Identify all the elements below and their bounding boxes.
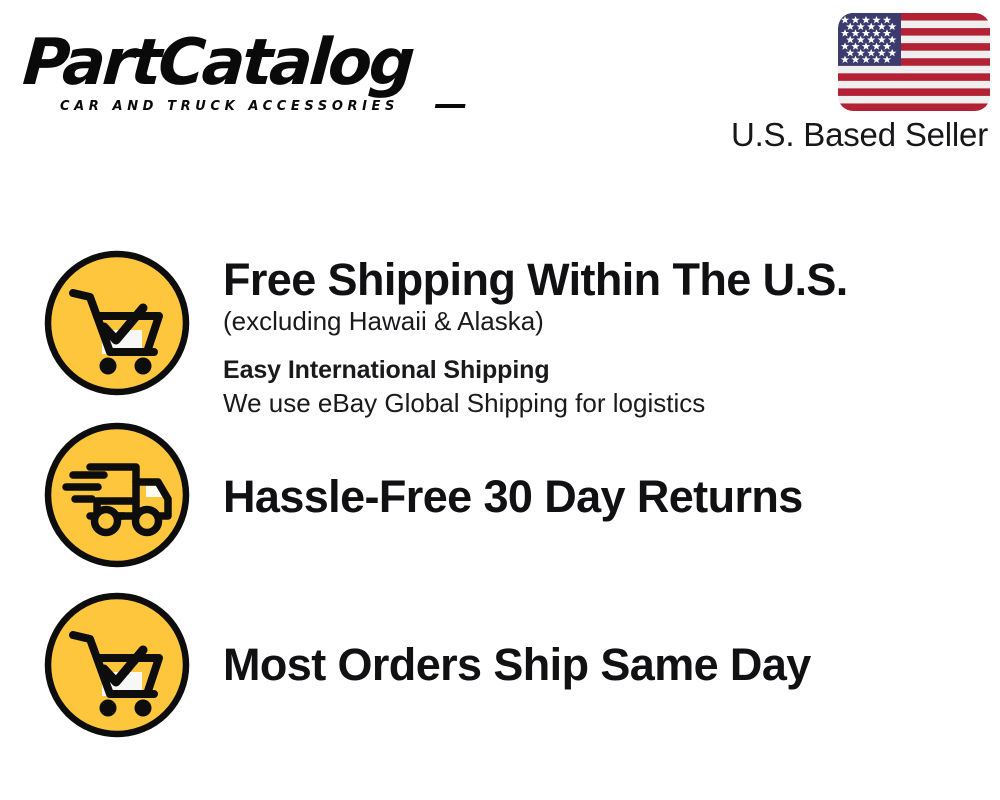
delivery-truck-icon — [42, 420, 192, 570]
benefit-headline: Hassle-Free 30 Day Returns — [223, 474, 983, 520]
page-header: PartCatalog CAR AND TRUCK ACCESSORIES — [0, 0, 1000, 175]
shopping-cart-check-icon — [42, 590, 192, 740]
logo-tagline: CAR AND TRUCK ACCESSORIES — [60, 99, 399, 114]
us-based-seller-label: U.S. Based Seller — [731, 116, 988, 154]
svg-text:PartCatalog: PartCatalog — [22, 26, 416, 100]
benefit-subline: We use eBay Global Shipping for logistic… — [223, 388, 983, 420]
benefit-text-block: Free Shipping Within The U.S. (excluding… — [223, 248, 983, 420]
shopping-cart-check-icon — [42, 248, 192, 398]
benefit-text-block: Most Orders Ship Same Day — [223, 590, 983, 688]
benefit-subline: (excluding Hawaii & Alaska) — [223, 306, 983, 338]
brand-logo: PartCatalog CAR AND TRUCK ACCESSORIES — [22, 22, 492, 117]
svg-text:CAR AND TRUCK ACCESSORIES: CAR AND TRUCK ACCESSORIES — [60, 99, 399, 114]
benefit-subline-strong: Easy International Shipping — [223, 355, 983, 386]
benefit-text-block: Hassle-Free 30 Day Returns — [223, 420, 983, 520]
logo-wordmark: PartCatalog — [22, 26, 416, 100]
logo-underline — [435, 104, 466, 108]
us-flag-icon — [838, 13, 990, 111]
benefit-headline: Free Shipping Within The U.S. — [223, 257, 983, 303]
benefit-headline: Most Orders Ship Same Day — [223, 642, 983, 688]
